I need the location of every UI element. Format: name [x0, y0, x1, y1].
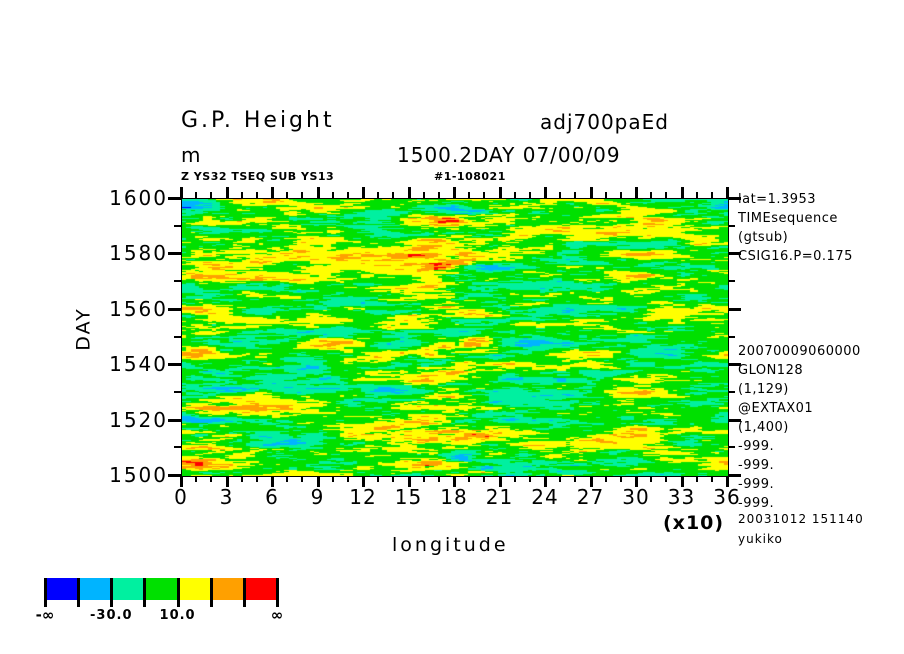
colorbar-band-2	[111, 578, 144, 600]
x-tick-label: 24	[531, 485, 558, 509]
x-tick-label: 3	[220, 485, 234, 509]
x-tick-label: 27	[577, 485, 604, 509]
x-tick-label: 6	[265, 485, 279, 509]
colorbar-endpoint-label: ∞	[271, 606, 284, 624]
y-tick-label: 1580	[109, 241, 168, 265]
colorbar-band-5	[211, 578, 244, 600]
author-label: yukiko	[738, 532, 783, 546]
x-tick-label: 18	[440, 485, 467, 509]
metadata-line: -999.	[738, 439, 774, 454]
x-tick-label: 36	[713, 485, 740, 509]
y-tick-label: 1520	[109, 408, 168, 432]
metadata-line: @EXTAX01	[738, 401, 813, 416]
metadata-line: -999.	[738, 477, 774, 492]
colorbar-endpoint-label: -∞	[36, 606, 55, 624]
colorbar-tick	[110, 578, 113, 607]
x-axis-multiplier-label: (x10)	[663, 512, 724, 534]
metadata-line: -999.	[738, 496, 774, 511]
metadata-line: TIMEsequence	[738, 211, 838, 226]
colorbar-tick	[276, 578, 279, 607]
colorbar-tick	[44, 578, 47, 607]
metadata-line: (1,400)	[738, 420, 789, 435]
metadata-line: lat=1.3953	[738, 192, 816, 207]
metadata-line: CSIG16.P=0.175	[738, 249, 853, 264]
y-axis-title: DAY	[73, 307, 95, 350]
colorbar-tick	[177, 578, 180, 607]
colorbar-band-3	[144, 578, 177, 600]
render-timestamp: 20031012 151140	[738, 512, 864, 526]
colorbar-band-4	[178, 578, 211, 600]
colorbar-band-0	[45, 578, 78, 600]
x-tick-label: 12	[349, 485, 376, 509]
colorbar-tick	[143, 578, 146, 607]
y-tick-label: 1560	[109, 297, 168, 321]
y-tick-label: 1500	[109, 463, 168, 487]
y-tick-label: 1600	[109, 186, 168, 210]
y-tick-label: 1540	[109, 352, 168, 376]
colorbar-band-6	[244, 578, 277, 600]
metadata-line: (1,129)	[738, 382, 789, 397]
colorbar-tick-label: 10.0	[160, 608, 196, 623]
x-tick-label: 21	[486, 485, 513, 509]
x-tick-label: 33	[668, 485, 695, 509]
colorbar-band-1	[78, 578, 111, 600]
x-tick-label: 15	[395, 485, 422, 509]
x-tick-label: 30	[622, 485, 649, 509]
colorbar-tick	[243, 578, 246, 607]
metadata-line: GLON128	[738, 363, 803, 378]
metadata-line: 20070009060000	[738, 344, 861, 359]
x-tick-label: 0	[174, 485, 188, 509]
x-tick-label: 9	[311, 485, 325, 509]
metadata-line: (gtsub)	[738, 230, 788, 245]
colorbar-tick-label: -30.0	[90, 608, 132, 623]
x-axis-title: longitude	[392, 534, 509, 556]
metadata-line: -999.	[738, 458, 774, 473]
colorbar-tick	[210, 578, 213, 607]
colorbar-tick	[77, 578, 80, 607]
